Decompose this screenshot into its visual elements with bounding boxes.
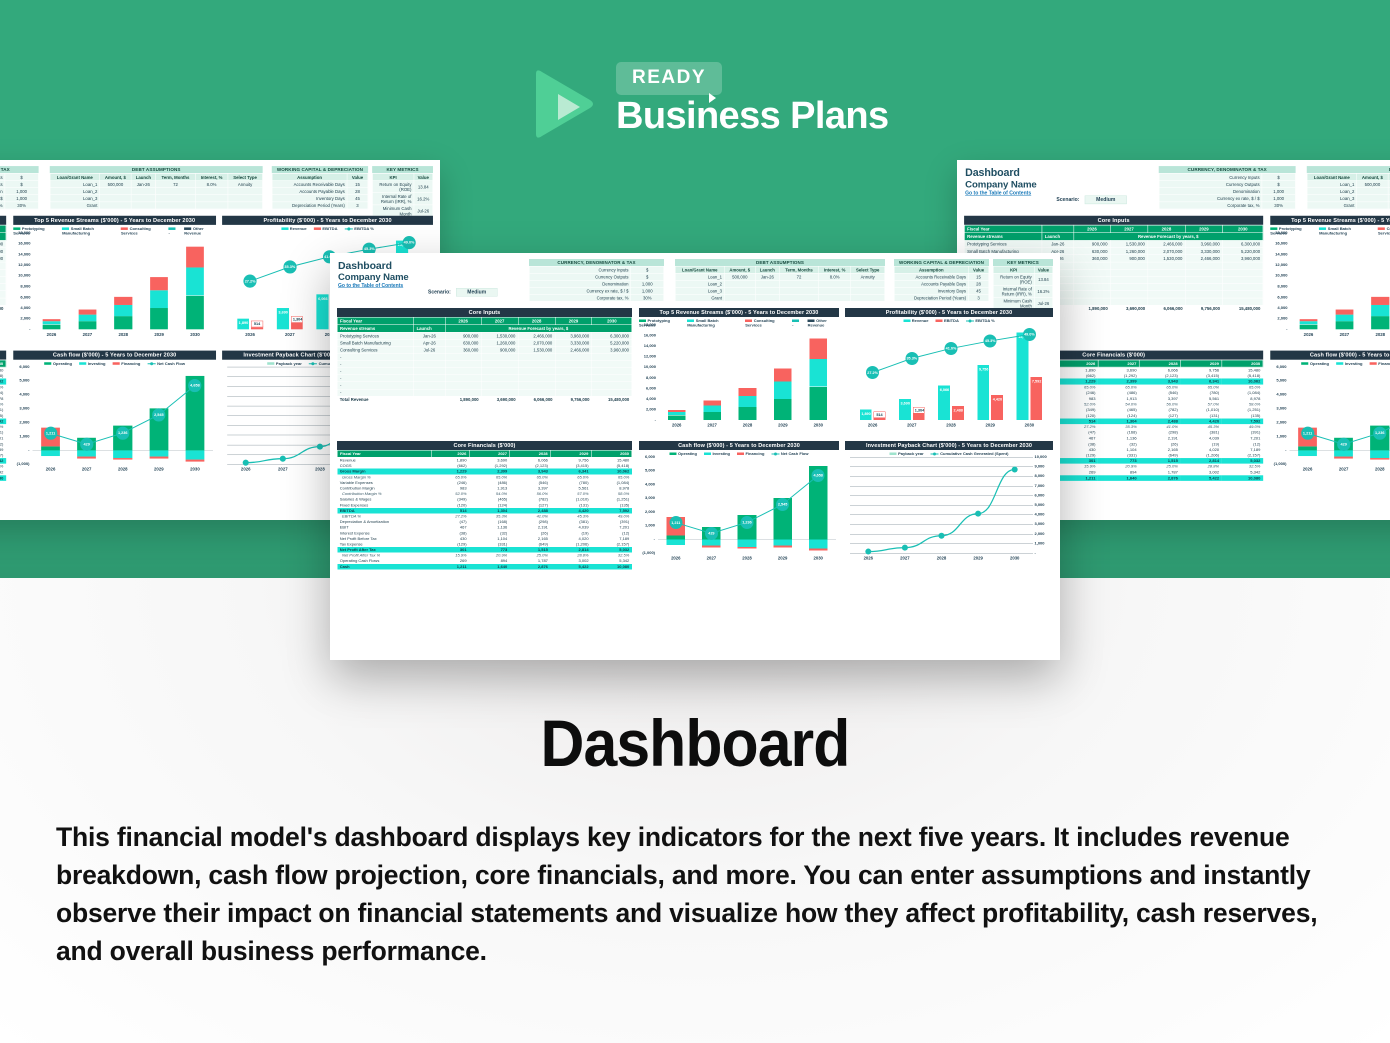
y-tick-label: 10,000: [1270, 273, 1287, 278]
bar-value-label: 1,890: [237, 320, 249, 326]
table-cell: 45: [347, 195, 368, 202]
panel-currency-denominator-tax: CURRENCY, DENOMINATOR & TAXCurrency Inpu…: [1159, 166, 1296, 209]
table-cell: 13.84: [1034, 273, 1053, 285]
forecast-cell: [1223, 262, 1263, 269]
table-cell: [851, 294, 885, 301]
panel-currency-denominator-tax: CURRENCY, DENOMINATOR & TAXCurrency Inpu…: [529, 259, 664, 302]
total-cell: 9,756,000: [555, 396, 592, 403]
column-header: 2026: [1060, 360, 1098, 367]
bar-value-label: 7,592: [1030, 379, 1042, 385]
net-cash-bubble: 4,658: [812, 469, 825, 482]
stream-launch: Jul-26: [414, 346, 445, 353]
title-play-icon: [709, 93, 716, 103]
total-row: Total Revenue1,890,0003,690,0006,066,000…: [337, 396, 632, 403]
table-cell: [195, 188, 227, 195]
legend-swatch: [113, 362, 120, 365]
net-cash-bubble: 429: [1337, 438, 1350, 451]
chart-title: Profitability ($'000) - 5 Years to Decem…: [222, 216, 433, 225]
x-tick-label: 2026: [39, 467, 61, 472]
chart-top5-revenue[interactable]: Top 5 Revenue Streams ($'000) - 5 Years …: [13, 216, 216, 343]
legend-swatch: [1336, 362, 1343, 365]
table-of-contents-link[interactable]: Go to the Table of Contents: [965, 190, 1031, 196]
table-row: Cash1,2111,6402,8765,42210,080: [337, 564, 632, 570]
table-cell: Accounts Payable Days: [894, 280, 968, 287]
row-label: Corporate tax, %: [1159, 202, 1262, 209]
total-cell: 1,890,000: [1074, 305, 1111, 312]
gridline: [850, 543, 1033, 544]
bar-segment: [1334, 457, 1353, 459]
legend-item: EBITDA %: [345, 226, 374, 231]
legend-item: Investing: [1336, 361, 1362, 366]
scenario-selector[interactable]: Scenario:Medium: [1056, 195, 1127, 204]
table-row: Currency Outputs$: [529, 273, 664, 280]
column-header: Amount, $: [100, 173, 131, 180]
row-label: Currency Inputs: [529, 266, 630, 273]
ebitda-pct-bubble: 45.3%: [984, 334, 997, 347]
y-tick-label: 18,000: [639, 323, 656, 328]
gridline: [850, 534, 1033, 535]
bar-segment: [774, 382, 792, 400]
table-row: Inventory Days45: [894, 287, 989, 294]
table-row: Internal Rate of Return (IRR), %16.2%: [993, 285, 1053, 297]
forecast-cell: [0, 276, 6, 283]
chart-legend: OperatingInvestingFinancingNet Cash Flow: [13, 360, 216, 366]
bar-segment: [113, 450, 132, 458]
legend-swatch: [1319, 228, 1326, 231]
legend-swatch: [890, 453, 897, 456]
scenario-selector[interactable]: Scenario:Medium: [428, 288, 498, 297]
bar-segment: [1335, 314, 1353, 321]
core-inputs-table: Fiscal Year20262027202820292030Revenue s…: [0, 225, 6, 312]
table-cell: [228, 188, 263, 195]
y-tick-label: 10,000: [639, 365, 656, 370]
legend-swatch: [281, 228, 288, 231]
chart-legend: Payback yearCumulative Cash Generated (S…: [845, 450, 1053, 456]
y-tick-label: -: [1270, 448, 1286, 453]
x-tick-label: 2027: [1333, 467, 1355, 472]
bar-value-label: 3,690: [277, 310, 289, 316]
table-cell: [1357, 195, 1388, 202]
bar-segment: [114, 316, 132, 329]
legend-line-marker: [931, 453, 939, 454]
x-tick-label: 2027: [1333, 332, 1355, 337]
column-header: 2030: [591, 450, 632, 457]
scenario-value[interactable]: Medium: [1085, 195, 1127, 204]
forecast-cell: [1110, 269, 1147, 276]
table-row: Loan_2: [1307, 188, 1390, 195]
bar-segment: [114, 297, 132, 305]
panel-currency-denominator-tax: CURRENCY, DENOMINATOR & TAXCurrency Inpu…: [0, 166, 39, 209]
x-tick-label: 2026: [40, 332, 62, 337]
page-description: This financial model's dashboard display…: [56, 818, 1346, 970]
forecast-cell: 2,070,000: [518, 339, 555, 346]
x-tick-label: 2028: [309, 467, 331, 472]
table-cell: 15: [347, 181, 368, 188]
table-cell: Return on Equity (ROE): [993, 273, 1034, 285]
chart-top5-revenue[interactable]: Top 5 Revenue Streams ($'000) - 5 Years …: [639, 308, 839, 433]
stream-name: -: [337, 389, 414, 396]
table-cell: 1,640: [1098, 475, 1139, 481]
legend-item: Small Batch Manufacturing: [1319, 226, 1371, 235]
x-tick-label: 2029: [148, 467, 170, 472]
chart-cash-flow[interactable]: Cash flow ($'000) - 5 Years to December …: [13, 351, 216, 478]
y-tick-label: 3,000: [13, 406, 29, 411]
y-tick-label: 4,000: [1035, 512, 1055, 517]
table-row: Loan_3: [675, 287, 885, 294]
column-header: 2027: [481, 317, 518, 325]
table-row: -: [337, 361, 632, 368]
table-cell: 500,000: [100, 181, 131, 188]
forecast-cell: [592, 382, 632, 389]
table-cell: [100, 202, 131, 209]
table-cell: [195, 202, 227, 209]
table-row: Loan_2: [675, 280, 885, 287]
stream-name: -: [337, 382, 414, 389]
bar-segment: [774, 399, 792, 420]
bar-segment: [43, 319, 61, 321]
table-row: Currency Inputs$: [1159, 173, 1295, 180]
row-value: 30%: [1262, 202, 1295, 209]
table-row: -: [0, 269, 6, 276]
total-cell: 15,480,000: [592, 396, 632, 403]
table-of-contents-link[interactable]: Go to the Table of Contents: [338, 283, 403, 289]
core-financials-title: Core Financials ($'000): [0, 351, 6, 360]
bar-value-label: 4,420: [991, 397, 1003, 403]
legend-line-marker: [771, 453, 779, 454]
forecast-cell: 5,220,000: [1223, 248, 1263, 255]
chart-cash-flow[interactable]: Cash flow ($'000) - 5 Years to December …: [1270, 351, 1390, 478]
legend-label: Net Cash Flow: [781, 452, 809, 457]
y-tick-label: 8,000: [13, 284, 30, 289]
forecast-cell: [555, 389, 592, 396]
table-cell: [228, 202, 263, 209]
chart-legend: Prototyping ServicesSmall Batch Manufact…: [13, 225, 216, 236]
y-tick-label: 3,000: [1035, 522, 1055, 527]
forecast-cell: [1148, 291, 1185, 298]
bar-revenue: [977, 365, 989, 420]
legend-swatch: [903, 320, 910, 323]
table-row: Currency Outputs$: [1159, 181, 1295, 188]
column-header: 2027: [1098, 360, 1139, 367]
bar-segment: [739, 396, 757, 407]
table-cell: [156, 195, 196, 202]
table-cell: 72: [779, 273, 818, 280]
table-row: Denomination1,000: [0, 188, 38, 195]
bar-segment: [1300, 324, 1318, 329]
y-tick-label: 10,000: [1035, 455, 1055, 460]
column-header: 2028: [518, 317, 555, 325]
forecast-cell: 360,000: [1074, 255, 1111, 262]
forecast-cell: [0, 298, 6, 305]
table-cell: [851, 287, 885, 294]
table-row: Prototyping ServicesJan-26900,0001,530,0…: [0, 240, 6, 247]
table-cell: [779, 294, 818, 301]
forecast-cell: 5,220,000: [592, 339, 632, 346]
table-row: Internal Rate of Return (IRR), %16.2%: [372, 193, 432, 205]
x-tick-label: 2027: [894, 556, 916, 561]
forecast-cell: [445, 368, 481, 375]
legend-item: Consulting Services: [1378, 226, 1390, 235]
column-header: [414, 317, 445, 325]
forecast-cell: [481, 389, 518, 396]
column-header: Assumption: [272, 173, 347, 180]
bar-segment: [186, 246, 204, 267]
legend-swatch: [44, 362, 51, 365]
chart-profitability[interactable]: Profitability ($'000) - 5 Years to Decem…: [845, 308, 1053, 433]
forecast-cell: [555, 382, 592, 389]
bar-segment: [1371, 305, 1389, 316]
table-row: Inventory Days45: [272, 195, 368, 202]
column-header: 2030: [0, 360, 6, 367]
legend-item: Investing: [704, 452, 730, 457]
gridline: [850, 505, 1033, 506]
table-cell: 3: [347, 202, 368, 209]
net-cash-bubble: 2,545: [152, 408, 165, 421]
stream-name: -: [337, 375, 414, 382]
x-tick-label: 2027: [901, 423, 923, 428]
row-label: Currency Outputs: [529, 273, 630, 280]
forecast-cell: [592, 354, 632, 361]
table-row: Currency ex rate, $ / $1,000: [1159, 195, 1295, 202]
table-cell: Loan_1: [675, 273, 724, 280]
panel-working-capital-depreciation: WORKING CAPITAL & DEPRECIATIONAssumption…: [272, 166, 368, 209]
column-header: Value: [414, 173, 433, 180]
y-tick-label: 18,000: [1270, 230, 1287, 235]
bar-segment: [77, 457, 96, 459]
y-tick-label: 2,000: [13, 420, 29, 425]
bar-value-label: 514: [874, 412, 886, 419]
cumulative-cash-curve: [845, 441, 1053, 566]
total-cell: 3,690,000: [1110, 305, 1147, 312]
legend-label: Financing: [746, 452, 765, 457]
bar-segment: [1300, 321, 1318, 324]
legend-label: Revenue: [912, 319, 929, 324]
forecast-cell: [0, 269, 6, 276]
legend-label: Financing: [121, 361, 140, 366]
forecast-cell: [592, 368, 632, 375]
chart-cash-flow[interactable]: Cash flow ($'000) - 5 Years to December …: [639, 441, 839, 566]
table-cell: 1,211: [431, 564, 469, 570]
x-tick-label: 2029: [967, 556, 989, 561]
column-header: 2029: [550, 450, 591, 457]
table-cell: 5,422: [550, 564, 591, 570]
y-tick-label: -: [13, 327, 30, 332]
table-cell: 8.0%: [195, 181, 227, 188]
table-cell: 2,876: [510, 564, 551, 570]
bar-segment: [1370, 450, 1389, 458]
column-header: Fiscal Year: [337, 317, 414, 325]
column-header: 2028: [1148, 225, 1185, 233]
net-cash-bubble: 1,236: [1373, 426, 1386, 439]
stream-name: Prototyping Services: [964, 240, 1042, 247]
row-value: 1,000: [631, 287, 664, 294]
row-value: 1,000: [631, 280, 664, 287]
y-tick-label: 5,000: [13, 378, 29, 383]
table-cell: 8.0%: [819, 273, 851, 280]
table-row: Accounts Receivable Days15: [272, 181, 368, 188]
panel-table: Currency Inputs$Currency Outputs$Denomin…: [0, 173, 39, 209]
ebitda-pct-bubble: 49.0%: [1023, 328, 1036, 341]
table-cell: Internal Rate of Return (IRR), %: [372, 193, 413, 205]
dashboard-sheet-main[interactable]: DashboardCompany NameGo to the Table of …: [330, 253, 1060, 660]
column-header: 2026: [445, 317, 481, 325]
ebitda-pct-bubble: 41.0%: [945, 342, 958, 355]
y-tick-label: 4,000: [13, 305, 30, 310]
table-cell: Loan_2: [675, 280, 724, 287]
core-inputs-panel: Core InputsFiscal Year202620272028202920…: [337, 308, 632, 403]
panel-title: WORKING CAPITAL & DEPRECIATION: [894, 259, 989, 266]
column-header: Loan/Grant Name: [675, 266, 724, 273]
y-tick-label: 18,000: [13, 230, 30, 235]
bar-value-label: 2,488: [952, 407, 964, 413]
forecast-cell: [1148, 276, 1185, 283]
table-row: -: [0, 262, 6, 269]
table-cell: [779, 280, 818, 287]
table-cell: 28: [968, 280, 988, 287]
ebitda-pct-bubble: 35.3%: [283, 260, 296, 273]
y-tick-label: 5,000: [1035, 503, 1055, 508]
row-value: 30%: [5, 202, 38, 209]
y-tick-label: -: [1270, 327, 1287, 332]
ebitda-pct-bubble: 27.2%: [866, 366, 879, 379]
y-tick-label: (1,000): [13, 462, 29, 467]
y-tick-label: 12,000: [1270, 263, 1287, 268]
y-tick-label: 1,000: [639, 523, 655, 528]
forecast-cell: [481, 375, 518, 382]
table-cell: Inventory Days: [272, 195, 347, 202]
y-tick-label: 14,000: [13, 252, 30, 257]
chart-investment-payback[interactable]: Investment Payback Chart ($'000) - 5 Yea…: [845, 441, 1053, 566]
table-row: Return on Equity (ROE)13.84: [372, 181, 432, 193]
table-row: Currency Inputs$: [529, 266, 664, 273]
bar-value-label: 1,890: [860, 411, 872, 417]
forecast-cell: [1074, 269, 1111, 276]
legend-label: Revenue: [290, 226, 307, 231]
net-cash-bubble: 1,236: [116, 426, 129, 439]
column-header: 2029: [1180, 360, 1221, 367]
forecast-cell: [481, 382, 518, 389]
panel-title: CURRENCY, DENOMINATOR & TAX: [0, 166, 39, 173]
chart-legend: OperatingInvestingFinancingNet Cash Flow: [1270, 360, 1390, 366]
table-cell: 16.2%: [414, 193, 433, 205]
chart-legend: Prototyping ServicesSmall Batch Manufact…: [1270, 225, 1390, 236]
forecast-cell: [481, 368, 518, 375]
bar-segment: [809, 549, 828, 551]
forecast-cell: [1185, 298, 1222, 305]
y-tick-label: 8,000: [1035, 474, 1055, 479]
forecast-cell: [555, 361, 592, 368]
legend-item: EBITDA %: [966, 319, 995, 324]
legend-swatch: [121, 228, 128, 231]
bar-segment: [774, 369, 792, 382]
forecast-cell: 630,000: [1074, 248, 1111, 255]
row-value: 1,000: [1262, 195, 1295, 202]
core-financials-title: Core Financials ($'000): [337, 441, 632, 450]
forecast-cell: [481, 354, 518, 361]
stream-name: Small Batch Manufacturing: [337, 339, 414, 346]
table-cell: [1357, 202, 1388, 209]
y-tick-label: 2,000: [1035, 531, 1055, 536]
scenario-value[interactable]: Medium: [456, 288, 498, 297]
table-row: Loan_1500,000Jan-26728.0%Annuity: [675, 273, 885, 280]
chart-legend: OperatingInvestingFinancingNet Cash Flow: [639, 450, 839, 456]
chart-legend: RevenueEBITDAEBITDA %: [845, 317, 1053, 323]
chart-top5-revenue[interactable]: Top 5 Revenue Streams ($'000) - 5 Years …: [1270, 216, 1390, 343]
x-tick-label: 2028: [112, 467, 134, 472]
ebitda-pct-bubble: 35.3%: [905, 352, 918, 365]
forecast-cell: [592, 361, 632, 368]
forecast-cell: 2,466,000: [1148, 240, 1185, 247]
bar-segment: [1371, 316, 1389, 329]
table-row: Currency ex rate, $ / $1,000: [0, 195, 38, 202]
legend-item: EBITDA: [314, 226, 338, 231]
legend-item: Payback year: [267, 361, 302, 366]
table-row: -: [0, 298, 6, 305]
table-row: Accounts Receivable Days15: [894, 273, 989, 280]
forecast-cell: [518, 361, 555, 368]
y-tick-label: 2,000: [1270, 420, 1286, 425]
bar-value-label: 6,066: [317, 296, 329, 302]
net-cash-bubble: 1,211: [669, 516, 682, 529]
gridline: [850, 486, 1033, 487]
legend-line-marker: [345, 228, 353, 229]
table-row: -: [0, 276, 6, 283]
forecast-cell: [518, 375, 555, 382]
table-cell: 2,876: [1139, 475, 1180, 481]
legend-swatch: [687, 320, 694, 323]
x-tick-label: 2027: [701, 423, 723, 428]
bar-segment: [809, 539, 828, 548]
column-header: Value: [968, 266, 988, 273]
legend-swatch: [792, 320, 799, 323]
net-cash-bubble: 4,658: [188, 379, 201, 392]
chart-title: Investment Payback Chart ($'000) - 5 Yea…: [845, 441, 1053, 450]
forecast-cell: [1185, 269, 1222, 276]
forecast-cell: [555, 375, 592, 382]
table-row: Loan_1500,000Jan-26728.0%Annuity: [1307, 181, 1390, 188]
forecast-cell: 6,300,000: [0, 240, 6, 247]
core-inputs-table: Fiscal Year20262027202820292030Revenue s…: [337, 317, 632, 403]
legend-item: -: [792, 319, 801, 328]
table-cell: 10,080: [1222, 475, 1263, 481]
bar-segment: [668, 415, 686, 420]
page-title: Dashboard: [56, 705, 1335, 781]
y-tick-label: -: [639, 537, 655, 542]
stream-launch: [414, 375, 445, 382]
legend-line-marker: [966, 320, 974, 321]
legend-item: Cumulative Cash Generated (Spent): [931, 452, 1009, 457]
y-tick-label: 6,000: [13, 295, 30, 300]
table-cell: [131, 188, 155, 195]
forecast-cell: [1110, 283, 1147, 290]
table-cell: Grant: [675, 294, 724, 301]
column-header: Select Type: [851, 266, 885, 273]
core-inputs-title: Core Inputs: [0, 216, 6, 225]
bar-value-label: 6,066: [938, 387, 950, 393]
x-tick-label: 2030: [184, 332, 206, 337]
x-tick-label: 2026: [1296, 467, 1318, 472]
row-label: Cash: [337, 564, 431, 570]
bar-segment: [78, 321, 96, 329]
row-value: $: [631, 273, 664, 280]
column-header: Interest, %: [819, 266, 851, 273]
legend-swatch: [1378, 228, 1385, 231]
table-row: Grant: [50, 202, 262, 209]
brand-logo: READY Business Plans: [528, 62, 888, 150]
y-tick-label: 6,000: [1035, 493, 1055, 498]
table-cell: 16.2%: [1034, 285, 1053, 297]
legend-item: Financing: [1370, 361, 1390, 366]
